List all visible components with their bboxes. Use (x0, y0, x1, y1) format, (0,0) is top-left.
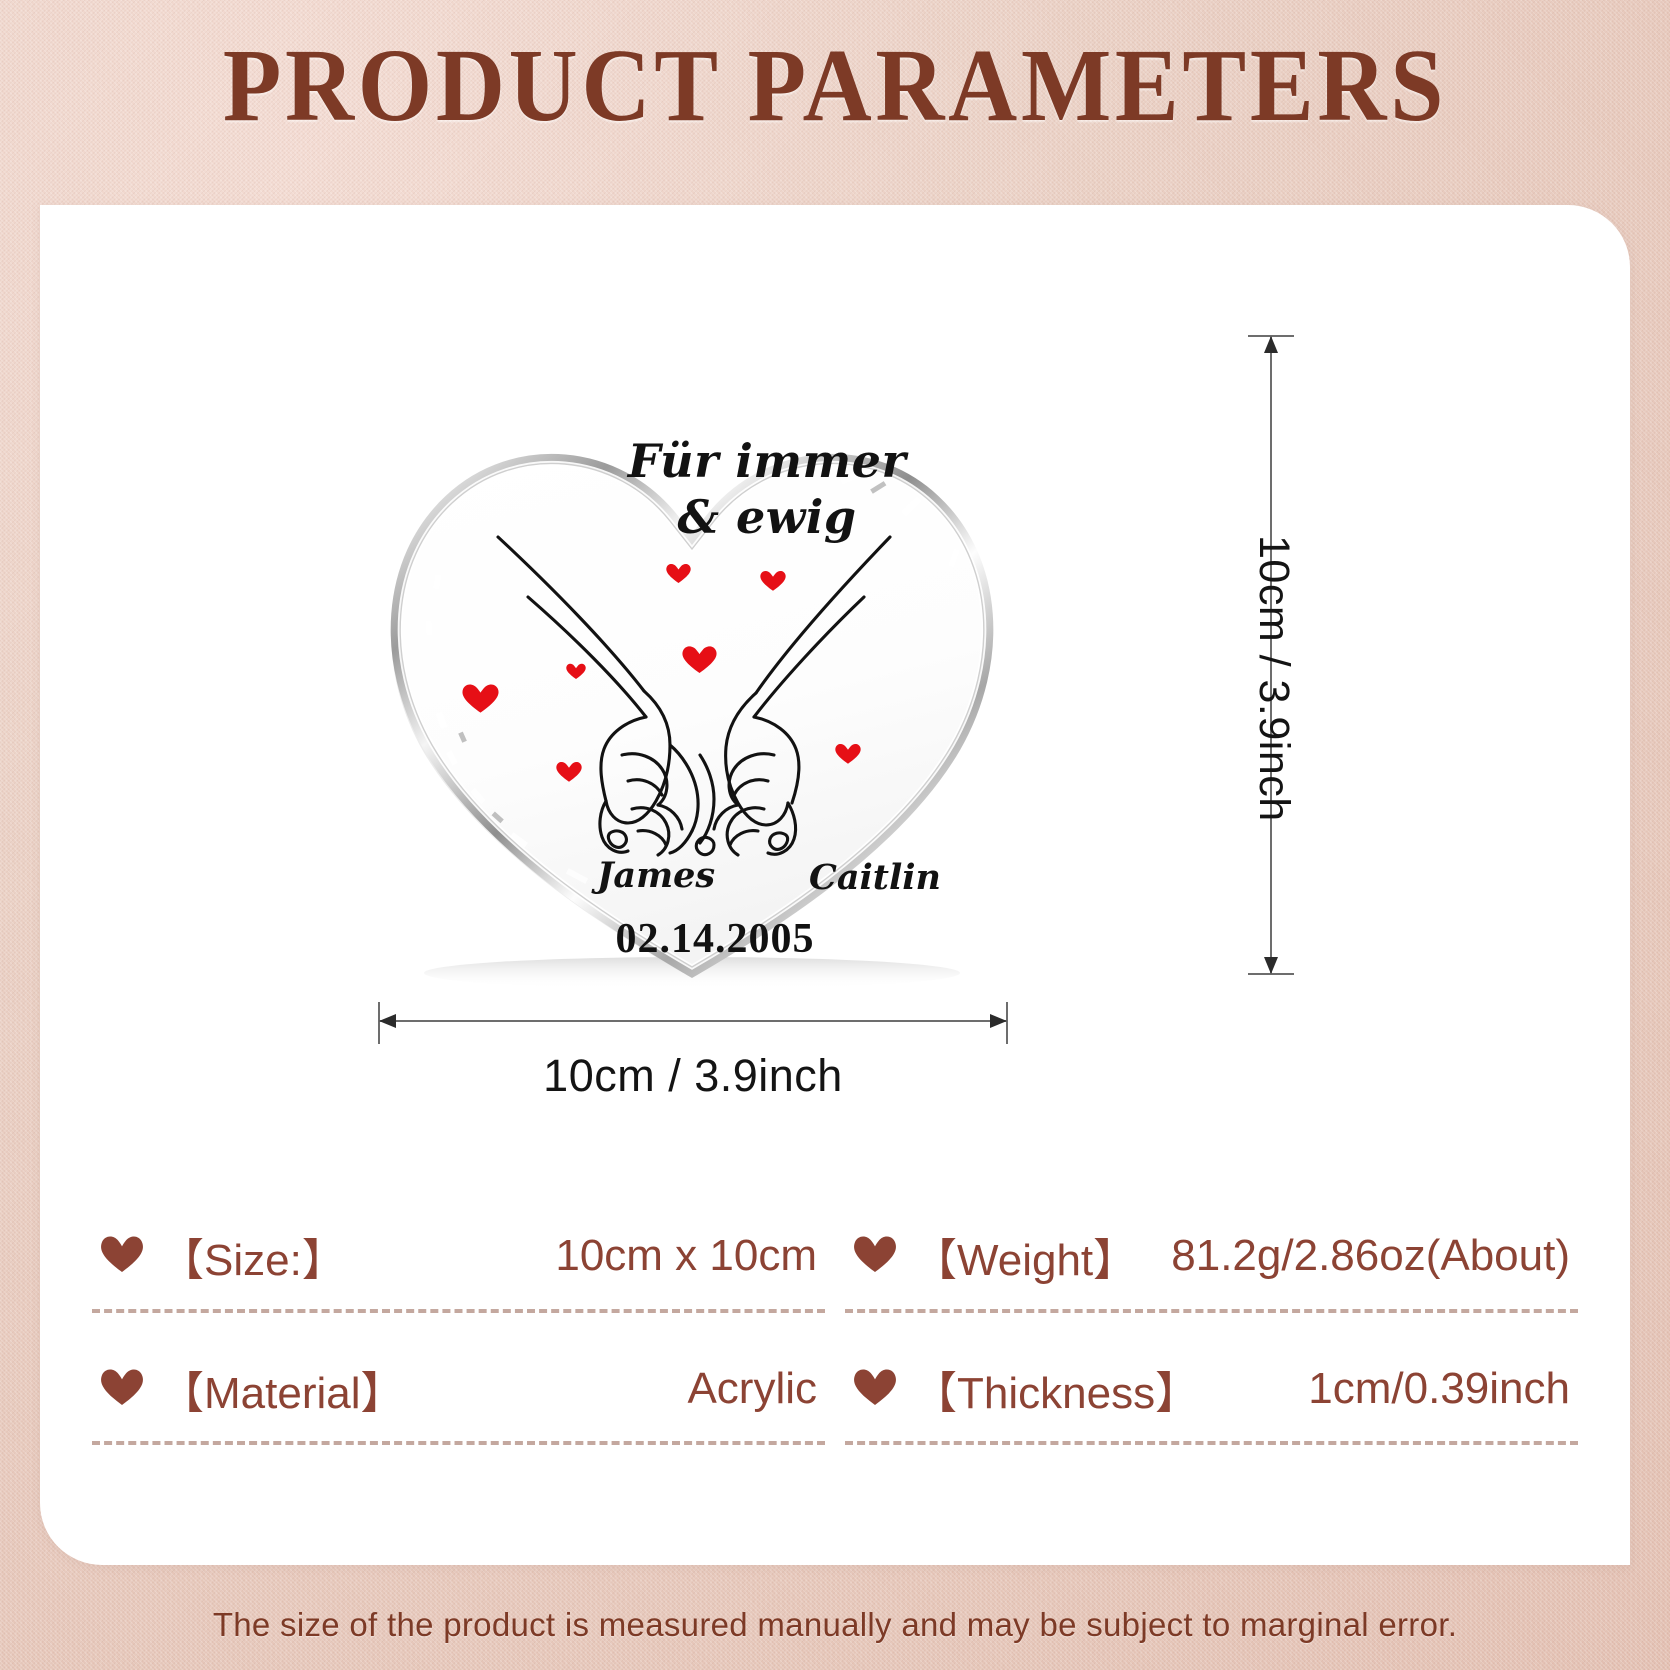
spec-label: 【Material】 (160, 1357, 405, 1421)
spec-row-weight: 【Weight】 81.2g/2.86oz(About) (835, 1190, 1588, 1323)
height-dimension-label: 10cm / 3.9inch (1249, 535, 1298, 822)
page-title: PRODUCT PARAMETERS (67, 34, 1603, 138)
width-arrow-right (990, 1014, 1007, 1028)
spec-label: 【Thickness】 (913, 1357, 1199, 1421)
acrylic-heart-plaque: Für immer & ewig James Caitlin 02.14.200… (370, 325, 1015, 990)
footer-note: The size of the product is measured manu… (0, 1606, 1670, 1644)
content-card: Für immer & ewig James Caitlin 02.14.200… (40, 205, 1630, 1565)
spec-value: 1cm/0.39inch (1308, 1364, 1570, 1414)
width-dimension-line (378, 1020, 1008, 1022)
spec-row-material: 【Material】 Acrylic (82, 1323, 835, 1456)
heart-icon (853, 1367, 897, 1407)
spec-label: 【Weight】 (913, 1224, 1137, 1288)
height-arrow-up (1264, 336, 1278, 353)
heart-icon (100, 1234, 144, 1274)
height-arrow-down (1264, 957, 1278, 974)
heart-icon (100, 1367, 144, 1407)
spec-value: 10cm x 10cm (555, 1231, 817, 1281)
spec-value: Acrylic (687, 1364, 817, 1414)
spec-row-thickness: 【Thickness】 1cm/0.39inch (835, 1323, 1588, 1456)
width-arrow-left (379, 1014, 396, 1028)
heart-icon (853, 1234, 897, 1274)
spec-row-size: 【Size:】 10cm x 10cm (82, 1190, 835, 1323)
product-hero: Für immer & ewig James Caitlin 02.14.200… (40, 205, 1630, 1165)
spec-label: 【Size:】 (160, 1224, 346, 1288)
width-dimension-label: 10cm / 3.9inch (378, 1050, 1008, 1102)
spec-grid: 【Size:】 10cm x 10cm 【Weight】 81.2g/2.86o… (40, 1190, 1630, 1455)
spec-value: 81.2g/2.86oz(About) (1171, 1231, 1570, 1281)
